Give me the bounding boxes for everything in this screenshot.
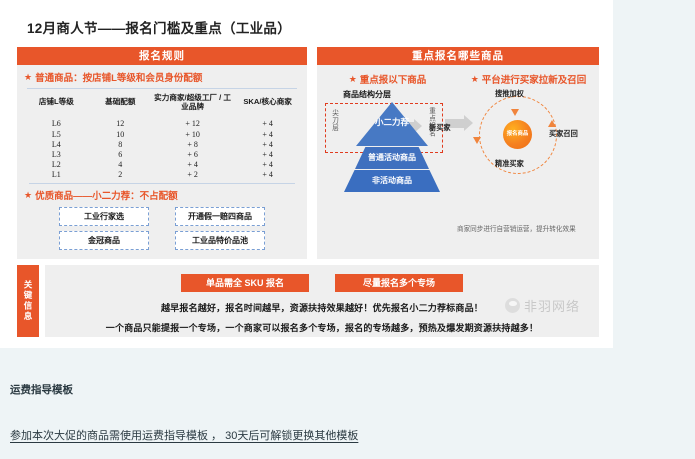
star-icon: ★ [471,75,479,84]
tag-industrial-special-price-pool[interactable]: 工业品特价品池 [175,231,265,250]
cell-level: L3 [23,149,90,159]
quota-table-wrapper: 店铺L等级 基础配额 实力商家/超级工厂 / 工业品牌 SKA/核心商家 L6 … [17,92,307,181]
right-panel-header: 重点报名哪些商品 [317,47,599,65]
tag-row-two: 金冠商品 工业品特价品池 [17,231,307,250]
loop-label-top: 搜推加权 [495,89,524,99]
subheader-right-text: 平台进行买家拉新及召回 [482,72,587,86]
cell-ska: + 4 [234,115,301,129]
cell-base: 10 [90,129,151,139]
loop-label-left: 新买家 [429,123,451,133]
full-sku-registration-button[interactable]: 单品需全 SKU 报名 [181,274,309,292]
tag-gold-crown-product[interactable]: 金冠商品 [59,231,149,250]
watermark-text: 非羽网络 [524,296,580,315]
left-panel-header: 报名规则 [17,47,307,65]
tag-fake-one-pay-four[interactable]: 开通假一赔四商品 [175,207,265,226]
cell-level: L5 [23,129,90,139]
rule-two-row: ★ 优质商品——小二力荐：不占配额 [24,188,307,202]
pyramid-top-label: 小二力荐 [370,118,414,127]
col-store-level: 店铺L等级 [23,92,90,115]
loop-label-right: 买家召回 [549,129,578,139]
loop-center-label: 报名商品 [503,120,532,149]
cell-level: L4 [23,139,90,149]
cell-ska: + 4 [234,129,301,139]
table-row: L6 12 + 12 + 4 [23,115,301,129]
pyramid-tier-middle: 普通活动商品 [355,147,429,169]
table-header-row: 店铺L等级 基础配额 实力商家/超级工厂 / 工业品牌 SKA/核心商家 [23,92,301,115]
key-info-line-two: 一个商品只能提报一个专场，一个商家可以报名多个专场，报名的专场越多，预热及爆发期… [45,321,599,334]
subheader-left-row: ★ 重点报以下商品 [349,72,427,86]
table-row: L4 8 + 8 + 4 [23,139,301,149]
right-panel-footnote: 商家同步进行自营销运营，提升转化效果 [457,223,576,233]
cell-power: + 10 [151,129,234,139]
cell-ska: + 4 [234,170,301,182]
cell-base: 12 [90,115,151,129]
key-info-buttons: 单品需全 SKU 报名 尽量报名多个专场 [45,265,599,292]
cell-base: 8 [90,139,151,149]
table-row: L1 2 + 2 + 4 [23,170,301,182]
pyramid-left-label: 尖刀层 [330,109,337,132]
cell-level: L1 [23,170,90,182]
col-power-merchant: 实力商家/超级工厂 / 工业品牌 [151,92,234,115]
col-base-quota: 基础配额 [90,92,151,115]
cell-power: + 6 [151,149,234,159]
cell-ska: + 4 [234,160,301,170]
divider-top [27,88,297,89]
tag-row-one: 工业行家选 开通假一赔四商品 [17,207,307,226]
table-row: L3 6 + 6 + 4 [23,149,301,159]
key-info-tab-label: 关键信息 [17,265,39,337]
rule-two-text: 优质商品——小二力荐：不占配额 [35,188,178,202]
loop-label-bottom: 精准买家 [495,159,524,169]
right-panel-subheaders: ★ 重点报以下商品 ★ 平台进行买家拉新及召回 [317,72,599,86]
cell-base: 6 [90,149,151,159]
cell-ska: + 4 [234,139,301,149]
quota-table: 店铺L等级 基础配额 实力商家/超级工厂 / 工业品牌 SKA/核心商家 L6 … [23,92,301,181]
cell-power: + 12 [151,115,234,129]
watermark-logo-icon [505,298,520,313]
loop-arrow-icon [511,109,519,116]
star-icon: ★ [24,73,32,82]
watermark: 非羽网络 [505,296,580,315]
pyramid-tier-top: 小二力荐 [356,102,428,146]
cell-power: + 4 [151,160,234,170]
rule-one-row: ★ 普通商品：按店铺L等级和会员身份配额 [24,70,307,84]
rule-one-text: 普通商品：按店铺L等级和会员身份配额 [35,70,202,84]
cell-base: 4 [90,160,151,170]
structure-label: 商品结构分层 [343,89,391,100]
slide-card: 12月商人节——报名门槛及重点（工业品） 报名规则 ★ 普通商品：按店铺L等级和… [0,0,613,348]
article-heading: 运费指导模板 [10,382,73,397]
table-row: L5 10 + 10 + 4 [23,129,301,139]
pyramid-tier-bottom: 非活动商品 [344,170,440,192]
cell-level: L6 [23,115,90,129]
col-ska: SKA/核心商家 [234,92,301,115]
divider-bottom [29,183,295,184]
product-pyramid: 小二力荐 普通活动商品 非活动商品 [355,102,429,192]
loop-arrow-icon [473,137,481,144]
article-paragraph: 参加本次大促的商品需使用运费指导模板 ， 30天后可解锁更换其他模板 [10,427,358,443]
tag-industry-expert-pick[interactable]: 工业行家选 [59,207,149,226]
subheader-left-text: 重点报以下商品 [360,72,427,86]
loop-arrow-icon [548,120,556,127]
key-products-panel: 重点报名哪些商品 ★ 重点报以下商品 ★ 平台进行买家拉新及召回 商品结构分层 … [317,47,599,259]
table-row: L2 4 + 4 + 4 [23,160,301,170]
page-title: 12月商人节——报名门槛及重点（工业品） [27,17,291,37]
cell-power: + 8 [151,139,234,149]
cell-base: 2 [90,170,151,182]
multi-session-registration-button[interactable]: 尽量报名多个专场 [335,274,463,292]
cell-ska: + 4 [234,149,301,159]
registration-rules-panel: 报名规则 ★ 普通商品：按店铺L等级和会员身份配额 店铺L等级 基础配额 实力商… [17,47,307,259]
buyer-loop-diagram: 报名商品 搜推加权 精准买家 新买家 买家召回 [465,93,583,181]
cell-level: L2 [23,160,90,170]
star-icon: ★ [24,191,32,200]
star-icon: ★ [349,75,357,84]
cell-power: + 2 [151,170,234,182]
subheader-right-row: ★ 平台进行买家拉新及召回 [471,72,587,86]
